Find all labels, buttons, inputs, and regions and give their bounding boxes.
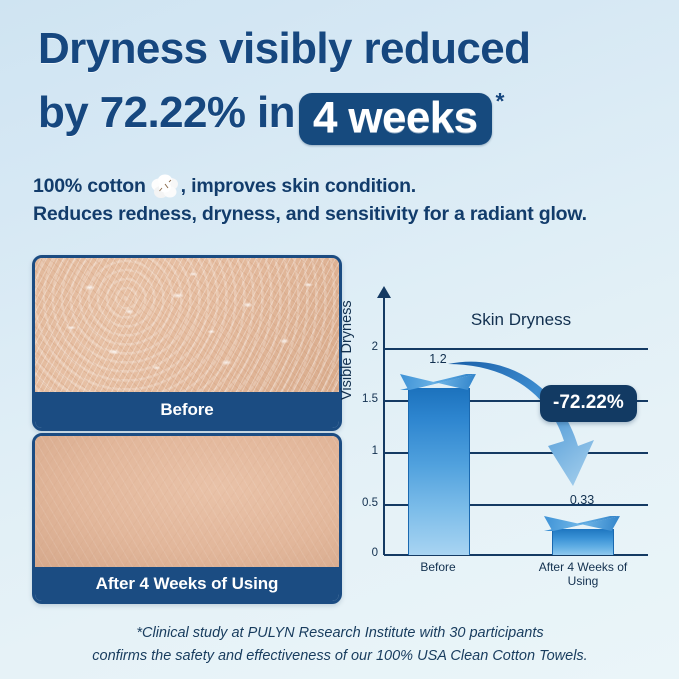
subtitle-line-1-pre: 100% cotton bbox=[33, 175, 146, 197]
asterisk-marker: * bbox=[496, 88, 504, 114]
subtitle-line-1-post: , improves skin condition. bbox=[181, 175, 416, 197]
subtitle-line-1: 100% cotton , improves skin condition. bbox=[33, 172, 653, 200]
infographic-canvas: Dryness visibly reduced by 72.22% in4 we… bbox=[0, 0, 679, 679]
before-photo-label: Before bbox=[35, 392, 339, 428]
after-photo-label: After 4 Weeks of Using bbox=[35, 567, 339, 601]
footnote-line-1: *Clinical study at PULYN Research Instit… bbox=[40, 622, 640, 645]
y-tick-1: 1 bbox=[348, 445, 378, 457]
chart-y-axis bbox=[383, 296, 385, 555]
subtitle-line-2: Reduces redness, dryness, and sensitivit… bbox=[33, 200, 653, 228]
footnote-line-2: confirms the safety and effectiveness of… bbox=[40, 645, 640, 668]
axis-arrow-icon bbox=[377, 286, 391, 298]
headline-line-2: by 72.22% in4 weeks* bbox=[38, 75, 648, 145]
x-tick-before: Before bbox=[400, 560, 476, 574]
bar-after-face bbox=[552, 529, 614, 555]
y-tick-2: 2 bbox=[348, 341, 378, 353]
headline-line-2-text: by 72.22% in bbox=[38, 88, 295, 137]
chart-title: Skin Dryness bbox=[406, 310, 636, 330]
y-tick-0-5: 0.5 bbox=[348, 497, 378, 509]
after-photo-card: After 4 Weeks of Using bbox=[32, 433, 342, 604]
page-title: Dryness visibly reduced by 72.22% in4 we… bbox=[38, 22, 648, 145]
bar-after bbox=[544, 516, 620, 555]
footnote: *Clinical study at PULYN Research Instit… bbox=[40, 622, 640, 668]
cotton-boll-icon bbox=[150, 174, 180, 200]
y-tick-1-5: 1.5 bbox=[348, 393, 378, 405]
x-tick-after: After 4 Weeks of Using bbox=[524, 560, 642, 588]
weeks-badge: 4 weeks bbox=[299, 93, 492, 145]
before-skin-photo bbox=[35, 258, 339, 392]
percent-decrease-badge: -72.22% bbox=[540, 385, 637, 422]
decrease-arrow-icon bbox=[444, 350, 634, 510]
y-tick-0: 0 bbox=[348, 547, 378, 559]
before-photo-card: Before bbox=[32, 255, 342, 431]
subtitle: 100% cotton , improves skin condition. R… bbox=[33, 172, 653, 228]
skin-dryness-bar-chart: Visible Dryness Skin Dryness 2 1.5 1 0.5… bbox=[348, 288, 658, 580]
after-skin-photo bbox=[35, 436, 339, 567]
headline-line-1: Dryness visibly reduced bbox=[38, 22, 648, 75]
